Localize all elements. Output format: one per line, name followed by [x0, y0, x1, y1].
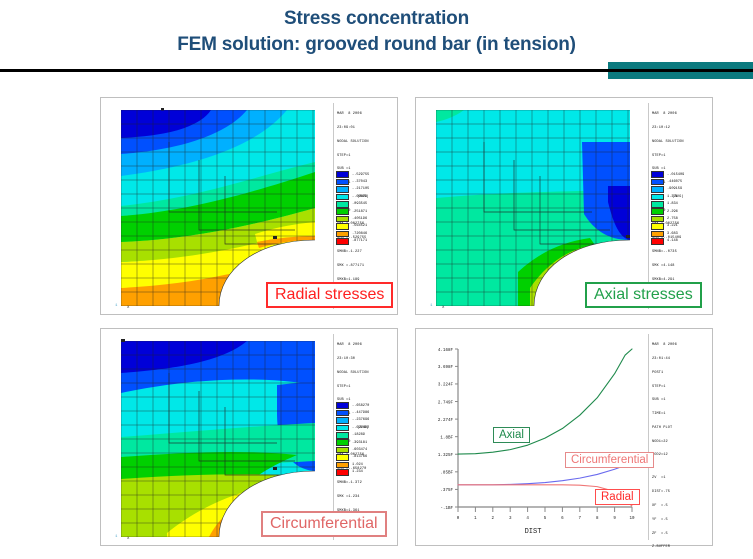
colorbar-value: -.06078	[352, 195, 367, 199]
colorbar-swatch	[336, 208, 349, 215]
legend-line: SMNB=-.0735	[652, 250, 710, 255]
legend-line: SMX =4.148	[652, 264, 710, 269]
colorbar-swatch	[336, 447, 349, 454]
y-tick-label: 2.749F	[438, 401, 454, 405]
colorbar-swatch	[651, 216, 664, 223]
colorbar-value: 2.296	[667, 210, 678, 214]
legend-line: 23:09:01	[337, 126, 395, 131]
colorbar-swatch	[651, 179, 664, 186]
colorbar-value: -.447986	[352, 411, 369, 415]
colorbar-value: .446075	[667, 180, 682, 184]
colorbar-value: -.015409	[667, 173, 684, 177]
chart-x-axis-label: DIST	[525, 528, 542, 536]
colorbar-swatch	[336, 231, 349, 238]
colorbar-value: -.658270	[352, 404, 369, 408]
contour-svg-radial: 1 X	[107, 102, 329, 310]
ansys-legend-radial: MAR 8 2006 23:09:01 NODAL SOLUTION STEP=…	[333, 103, 395, 309]
legend-line: SMNB=-1.227	[337, 250, 395, 255]
colorbar-swatch	[336, 201, 349, 208]
y-tick-label: .85BF	[440, 472, 453, 476]
colorbar-swatch	[651, 238, 664, 245]
legend-line: MAR 8 2006	[337, 343, 395, 348]
colorbar-row: 1.024	[336, 461, 390, 468]
chart-annotation-circumferential: Circumferential	[565, 452, 654, 468]
colorbar-swatch	[336, 223, 349, 230]
colorbar-value: 1.024	[352, 463, 363, 467]
y-tick-label: 2.274F	[438, 419, 454, 423]
colorbar-row: 3.221	[651, 223, 705, 230]
slide-header: Stress concentration FEM solution: groov…	[0, 0, 753, 80]
colorbar-swatch	[336, 238, 349, 245]
colorbar-row: -.027402	[336, 424, 390, 431]
colorbar-swatch	[651, 223, 664, 230]
colorbar-row: .877171	[336, 238, 390, 245]
colorbar-value: -.529755	[352, 173, 369, 177]
legend-line: SMX =1.234	[337, 495, 395, 500]
legend-line: STEP=1	[652, 154, 710, 159]
legend-line: ZV =1	[652, 476, 710, 481]
x-tick-label: 10	[629, 517, 635, 521]
colorbar-swatch	[336, 402, 349, 409]
chart-annotation-axial: Axial	[493, 427, 530, 443]
colorbar-swatch	[336, 469, 349, 476]
colorbar-row: 3.683	[651, 230, 705, 237]
ansys-legend-axial: MAR 8 2006 23:10:12 NODAL SOLUTION STEP=…	[648, 103, 710, 309]
legend-line: DIST=.75	[652, 490, 710, 495]
colorbar-row: -.237696	[336, 417, 390, 424]
colorbar-row: .603474	[336, 446, 390, 453]
colorbar-swatch	[651, 194, 664, 201]
legend-line: SMNB=-1.372	[337, 481, 395, 486]
colorbar-value: -.027402	[352, 426, 369, 430]
colorbar-value: .093545	[352, 202, 367, 206]
y-tick-label: 1.325F	[438, 454, 454, 458]
colorbar-swatch	[651, 186, 664, 193]
contour-plot-axial: 1 X	[422, 102, 644, 310]
legend-line: Z-BUFFER	[652, 545, 710, 550]
legend-line: NODAL SOLUTION	[337, 371, 395, 376]
colorbar-swatch	[336, 432, 349, 439]
legend-line: STEP=1	[337, 154, 395, 159]
colorbar-row: -.015409	[651, 171, 705, 178]
colorbar-row: .909159	[651, 186, 705, 193]
colorbar-swatch	[336, 216, 349, 223]
colorbar-value: -.237696	[352, 418, 369, 422]
legend-line: STEP=1	[652, 385, 710, 390]
legend-line: MAR 8 2006	[652, 112, 710, 117]
colorbar-value: .251871	[352, 210, 367, 214]
legend-line: TIME=1	[652, 412, 710, 417]
colorbar-row: 1.234	[336, 469, 390, 476]
contour-colorbar-radial: -.529755-.37043-.217105-.06078.093545.25…	[336, 171, 390, 245]
callout-radial-stresses: Radial stresses	[266, 282, 393, 308]
legend-line: SMX =.877171	[337, 264, 395, 269]
colorbar-value: .564521	[352, 224, 367, 228]
legend-line: YF =.5	[652, 518, 710, 523]
contour-plot-circumferential: 1 X	[107, 333, 329, 541]
colorbar-value: .877171	[352, 239, 367, 243]
colorbar-swatch	[336, 425, 349, 432]
colorbar-value: .393181	[352, 441, 367, 445]
colorbar-row: .564521	[336, 223, 390, 230]
colorbar-row: .405196	[336, 215, 390, 222]
colorbar-swatch	[651, 171, 664, 178]
callout-axial-stresses: Axial stresses	[585, 282, 702, 308]
colorbar-row: 2.758	[651, 215, 705, 222]
legend-line: NODAL SOLUTION	[337, 140, 395, 145]
colorbar-swatch	[336, 410, 349, 417]
legend-line: 23:01:44	[652, 357, 710, 362]
legend-line: STEP=1	[337, 385, 395, 390]
colorbar-value: -.37043	[352, 180, 367, 184]
page-title: Stress concentration FEM solution: groov…	[0, 6, 753, 58]
colorbar-value: 1.234	[352, 470, 363, 474]
y-tick-label: .375F	[440, 489, 453, 493]
colorbar-value: .720846	[352, 232, 367, 236]
legend-line: NODAL SOLUTION	[652, 140, 710, 145]
colorbar-value: 1.834	[667, 202, 678, 206]
legend-line: MAR 8 2006	[337, 112, 395, 117]
colorbar-row: .446075	[651, 178, 705, 185]
colorbar-row: .251871	[336, 208, 390, 215]
legend-line: MAR 8 2006	[652, 343, 710, 348]
y-tick-label: 4.168F	[438, 349, 454, 353]
colorbar-value: .909159	[667, 187, 682, 191]
path-plot-chart: -.1BF.375F.85BF1.325F1.8BF2.274F2.749F3.…	[422, 333, 644, 541]
colorbar-swatch	[651, 208, 664, 215]
colorbar-swatch	[336, 439, 349, 446]
colorbar-swatch	[336, 171, 349, 178]
contour-svg-axial: 1 X	[422, 102, 644, 310]
ansys-legend-circumferential: MAR 8 2006 23:10:30 NODAL SOLUTION STEP=…	[333, 334, 395, 540]
colorbar-swatch	[336, 417, 349, 424]
colorbar-row: -.06078	[336, 193, 390, 200]
colorbar-row: 4.148	[651, 238, 705, 245]
header-divider-rule	[0, 69, 753, 72]
legend-line: ZF =.5	[652, 532, 710, 537]
y-tick-label: 1.8BF	[440, 436, 453, 440]
colorbar-swatch	[336, 462, 349, 469]
colorbar-row: .720846	[336, 230, 390, 237]
colorbar-row: 1.371	[651, 193, 705, 200]
colorbar-value: 3.221	[667, 224, 678, 228]
panel-path-plot[interactable]: -.1BF.375F.85BF1.325F1.8BF2.274F2.749F3.…	[415, 328, 713, 546]
path-plot-svg: -.1BF.375F.85BF1.325F1.8BF2.274F2.749F3.…	[424, 335, 642, 539]
colorbar-row: .093545	[336, 201, 390, 208]
colorbar-value: .405196	[352, 217, 367, 221]
y-tick-label: 3.224F	[438, 384, 454, 388]
legend-line: 23:10:30	[337, 357, 395, 362]
colorbar-value: 4.148	[667, 239, 678, 243]
colorbar-value: 2.758	[667, 217, 678, 221]
colorbar-row: -.217105	[336, 186, 390, 193]
legend-line: POST1	[652, 371, 710, 376]
colorbar-value: 3.683	[667, 232, 678, 236]
colorbar-row: 2.296	[651, 208, 705, 215]
contour-svg-circumferential: 1 X	[107, 333, 329, 541]
colorbar-row: -.37043	[336, 178, 390, 185]
ansys-legend-path: MAR 8 2006 23:01:44 POST1 STEP=1 SUB =1 …	[648, 334, 710, 540]
page-title-line-2: FEM solution: grooved round bar (in tens…	[0, 32, 753, 58]
legend-line: NOD1=22	[652, 440, 710, 445]
legend-line: NOD2=12	[652, 453, 710, 458]
legend-line: XF =.5	[652, 504, 710, 509]
legend-line: SUB =1	[652, 398, 710, 403]
contour-colorbar-circumferential: -.658270-.447986-.237696-.027402.18289.3…	[336, 402, 390, 476]
callout-circumferential-stresses: Circumferential	[261, 511, 387, 537]
colorbar-value: 1.371	[667, 195, 678, 199]
legend-line: PATH PLOT	[652, 426, 710, 431]
chart-annotation-radial: Radial	[595, 489, 640, 505]
colorbar-value: .813766	[352, 455, 367, 459]
colorbar-row: .18289	[336, 432, 390, 439]
colorbar-value: .18289	[352, 433, 365, 437]
contour-colorbar-axial: -.015409.446075.9091591.3711.8342.2962.7…	[651, 171, 705, 245]
colorbar-swatch	[336, 179, 349, 186]
contour-plot-radial: 1 X	[107, 102, 329, 310]
colorbar-swatch	[336, 194, 349, 201]
legend-line: 23:10:12	[652, 126, 710, 131]
colorbar-row: 1.834	[651, 201, 705, 208]
colorbar-row: .393181	[336, 439, 390, 446]
colorbar-row: .813766	[336, 454, 390, 461]
colorbar-swatch	[651, 231, 664, 238]
colorbar-value: .603474	[352, 448, 367, 452]
colorbar-row: -.447986	[336, 409, 390, 416]
colorbar-swatch	[651, 201, 664, 208]
colorbar-value: -.217105	[352, 187, 369, 191]
page-title-line-1: Stress concentration	[0, 6, 753, 32]
y-tick-label: 3.698F	[438, 366, 454, 370]
colorbar-row: -.658270	[336, 402, 390, 409]
y-tick-label: -.1BF	[440, 507, 453, 511]
colorbar-swatch	[336, 186, 349, 193]
colorbar-swatch	[336, 454, 349, 461]
ansys-header-text-path: MAR 8 2006 23:01:44 POST1 STEP=1 SUB =1 …	[652, 334, 710, 559]
colorbar-row: -.529755	[336, 171, 390, 178]
